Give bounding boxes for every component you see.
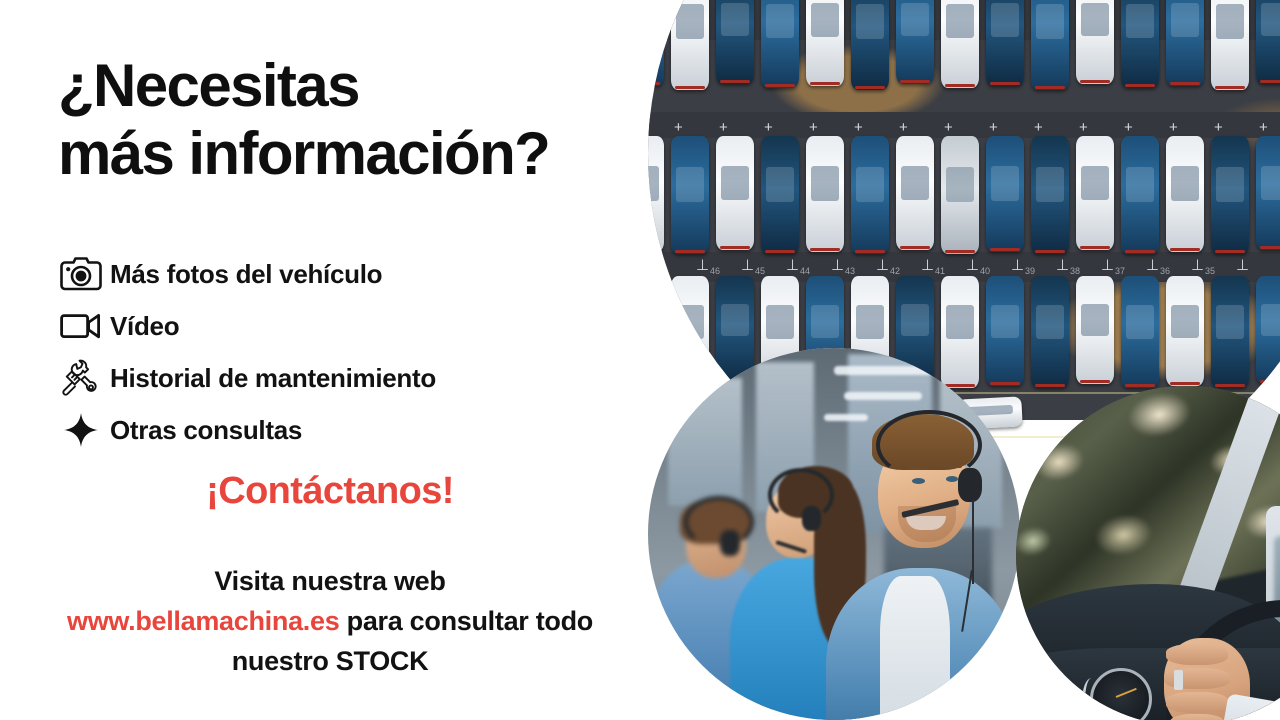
contact-cta: ¡Contáctanos! [0,470,660,513]
call-center-scene [648,348,1020,720]
website-url[interactable]: www.bellamachina.es [67,606,339,636]
feature-list: Más fotos del vehículo Vídeo [52,248,632,456]
list-item: Vídeo [52,300,632,352]
list-item-label: Otras consultas [110,417,302,443]
car-interior-scene [1016,386,1280,720]
driving-car-photo [1016,386,1280,720]
list-item-label: Más fotos del vehículo [110,261,382,287]
video-icon [52,304,110,348]
list-item: Más fotos del vehículo [52,248,632,300]
sparkle-icon [52,408,110,452]
page-title: ¿Necesitas más información? [58,52,698,188]
list-item: Historial de mantenimiento [52,352,632,404]
promo-banner: ¿Necesitas más información? Más fotos de… [0,0,1280,720]
website-line2-rest: para consultar todo [339,606,593,636]
call-center-team-photo [648,348,1020,720]
website-line1: Visita nuestra web [214,566,445,596]
tools-icon [52,356,110,400]
website-block: Visita nuestra web www.bellamachina.es p… [0,562,660,682]
website-line3: nuestro STOCK [232,646,429,676]
list-item: Otras consultas [52,404,632,456]
list-item-label: Historial de mantenimiento [110,365,436,391]
list-item-label: Vídeo [110,313,179,339]
camera-icon [52,252,110,296]
